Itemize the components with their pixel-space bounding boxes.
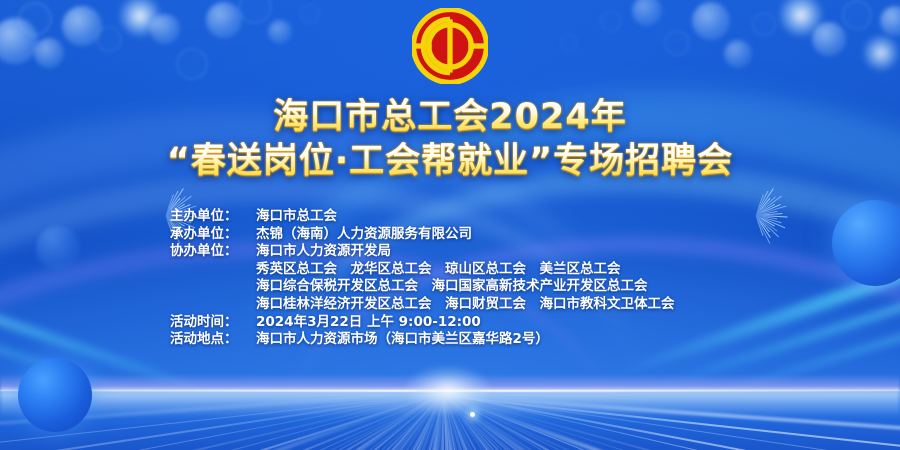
info-value: 海口市人力资源开发局 bbox=[256, 243, 730, 261]
info-row: 承办单位：杰锦（海南）人力资源服务有限公司 bbox=[0, 226, 900, 244]
info-label: 主办单位： bbox=[170, 208, 256, 226]
info-label: 活动时间： bbox=[170, 314, 256, 332]
info-value: 海口桂林洋经济开发区总工会 海口财贸工会 海口市教科文卫体工会 bbox=[256, 296, 730, 314]
poster-title-block: 海口市总工会2024年 “春送岗位·工会帮就业”专场招聘会 bbox=[0, 98, 900, 182]
info-row: 海口桂林洋经济开发区总工会 海口财贸工会 海口市教科文卫体工会 bbox=[0, 296, 900, 314]
info-label: 承办单位： bbox=[170, 226, 256, 244]
info-row-inner: 海口桂林洋经济开发区总工会 海口财贸工会 海口市教科文卫体工会 bbox=[170, 296, 730, 314]
decorative-sphere-left bbox=[18, 358, 92, 432]
info-row-inner: 承办单位：杰锦（海南）人力资源服务有限公司 bbox=[170, 226, 730, 244]
info-label bbox=[170, 296, 256, 314]
info-value: 海口市总工会 bbox=[256, 208, 730, 226]
poster-title-line-1: 海口市总工会2024年 bbox=[0, 98, 900, 138]
info-row: 主办单位：海口市总工会 bbox=[0, 208, 900, 226]
info-row-inner: 海口综合保税开发区总工会 海口国家高新技术产业开发区总工会 bbox=[170, 278, 730, 296]
event-info-block: 主办单位：海口市总工会承办单位：杰锦（海南）人力资源服务有限公司协办单位：海口市… bbox=[0, 208, 900, 349]
info-value: 海口市人力资源市场（海口市美兰区嘉华路2号） bbox=[256, 331, 730, 349]
info-value: 杰锦（海南）人力资源服务有限公司 bbox=[256, 226, 730, 244]
info-value: 海口综合保税开发区总工会 海口国家高新技术产业开发区总工会 bbox=[256, 278, 730, 296]
info-label bbox=[170, 261, 256, 279]
acftu-union-emblem bbox=[412, 8, 488, 84]
info-row-inner: 秀英区总工会 龙华区总工会 琼山区总工会 美兰区总工会 bbox=[170, 261, 730, 279]
info-value: 秀英区总工会 龙华区总工会 琼山区总工会 美兰区总工会 bbox=[256, 261, 730, 279]
info-row-inner: 协办单位：海口市人力资源开发局 bbox=[170, 243, 730, 261]
info-row-inner: 活动时间：2024年3月22日 上午 9:00-12:00 bbox=[170, 314, 730, 332]
info-label: 活动地点： bbox=[170, 331, 256, 349]
info-row: 活动地点：海口市人力资源市场（海口市美兰区嘉华路2号） bbox=[0, 331, 900, 349]
info-row: 海口综合保税开发区总工会 海口国家高新技术产业开发区总工会 bbox=[0, 278, 900, 296]
info-row: 协办单位：海口市人力资源开发局 bbox=[0, 243, 900, 261]
vanishing-point-glow bbox=[405, 366, 491, 414]
info-row: 秀英区总工会 龙华区总工会 琼山区总工会 美兰区总工会 bbox=[0, 261, 900, 279]
light-spark bbox=[470, 412, 475, 417]
poster-canvas: 海口市总工会2024年 “春送岗位·工会帮就业”专场招聘会 主办单位：海口市总工… bbox=[0, 0, 900, 450]
info-row: 活动时间：2024年3月22日 上午 9:00-12:00 bbox=[0, 314, 900, 332]
info-label bbox=[170, 278, 256, 296]
info-value: 2024年3月22日 上午 9:00-12:00 bbox=[256, 314, 730, 332]
info-row-inner: 主办单位：海口市总工会 bbox=[170, 208, 730, 226]
info-row-inner: 活动地点：海口市人力资源市场（海口市美兰区嘉华路2号） bbox=[170, 331, 730, 349]
poster-title-line-2: “春送岗位·工会帮就业”专场招聘会 bbox=[0, 142, 900, 182]
info-label: 协办单位： bbox=[170, 243, 256, 261]
